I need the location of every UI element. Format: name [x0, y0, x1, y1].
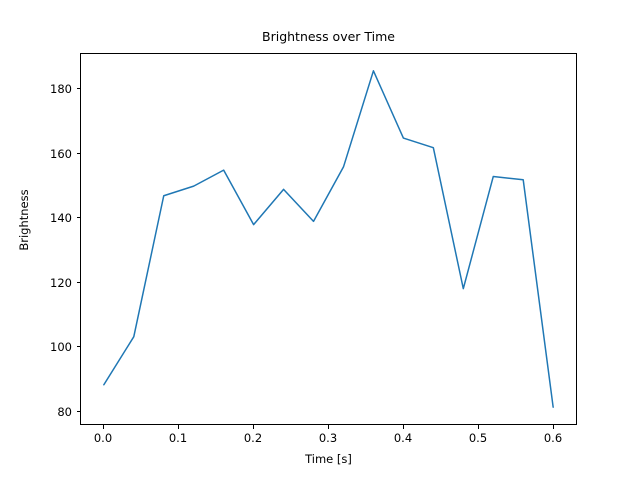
chart-title: Brightness over Time: [80, 30, 577, 44]
x-tick-mark: [328, 425, 329, 429]
y-axis-label: Brightness: [17, 120, 31, 320]
y-tick-label: 80: [14, 405, 72, 419]
x-tick-label: 0.3: [298, 431, 358, 445]
x-tick-label: 0.4: [373, 431, 433, 445]
x-tick-mark: [103, 425, 104, 429]
y-tick-mark: [77, 282, 81, 283]
plot-area: [80, 53, 577, 425]
y-tick-mark: [77, 153, 81, 154]
x-tick-label: 0.1: [148, 431, 208, 445]
x-tick-mark: [253, 425, 254, 429]
x-axis-label: Time [s]: [80, 452, 577, 466]
brightness-line: [104, 71, 553, 407]
y-tick-mark: [77, 217, 81, 218]
data-line-svg: [81, 54, 576, 424]
x-tick-label: 0.5: [448, 431, 508, 445]
y-tick-label: 180: [14, 82, 72, 96]
y-tick-label: 100: [14, 340, 72, 354]
y-tick-mark: [77, 88, 81, 89]
x-tick-label: 0.2: [223, 431, 283, 445]
x-tick-mark: [178, 425, 179, 429]
x-tick-label: 0.0: [73, 431, 133, 445]
chart-figure: Brightness over Time 0.0 0.1 0.2 0.3 0.4…: [0, 0, 640, 480]
x-tick-mark: [478, 425, 479, 429]
y-tick-mark: [77, 346, 81, 347]
y-tick-mark: [77, 411, 81, 412]
x-tick-mark: [403, 425, 404, 429]
x-tick-mark: [553, 425, 554, 429]
x-tick-label: 0.6: [523, 431, 583, 445]
